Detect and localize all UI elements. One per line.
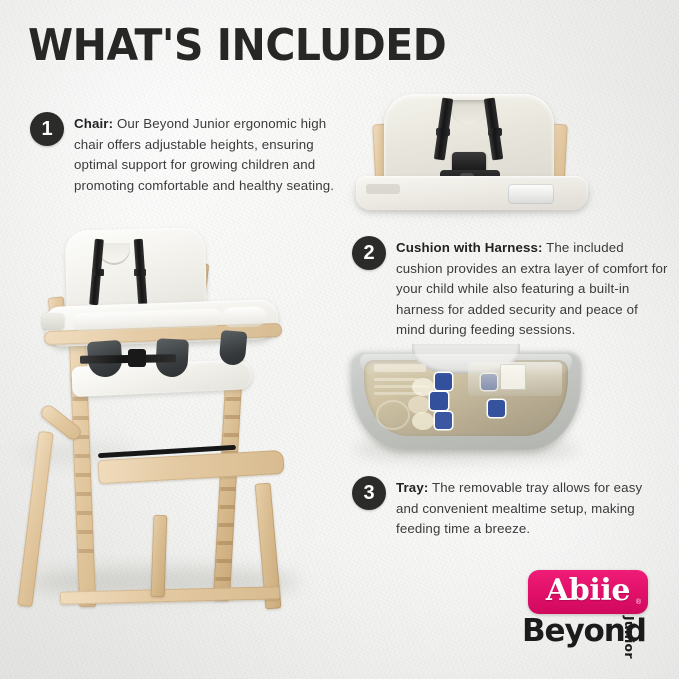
list-item-2-heading: Cushion with Harness:: [396, 240, 543, 255]
list-item-3-text: Tray: The removable tray allows for easy…: [396, 478, 668, 540]
junior-wordmark: Junior: [622, 616, 637, 659]
list-item-1-heading: Chair:: [74, 116, 113, 131]
brand-logo: Abiie ® Beyond Junior: [506, 566, 666, 666]
registered-trademark-icon: ®: [636, 599, 641, 606]
abiie-badge: Abiie ®: [528, 570, 648, 614]
page-title: WHAT'S INCLUDED: [28, 23, 446, 69]
step-number-badge-2: 2: [352, 236, 386, 270]
cushion-with-harness-photo: [352, 88, 592, 224]
abiie-wordmark: Abiie: [528, 570, 648, 614]
list-item-1-body: Our Beyond Junior ergonomic high chair o…: [74, 116, 334, 193]
list-item-2-text: Cushion with Harness: The included cushi…: [396, 238, 668, 341]
high-chair-photo: [24, 215, 334, 615]
infographic-page: WHAT'S INCLUDED: [0, 0, 679, 679]
step-number-badge-3: 3: [352, 476, 386, 510]
list-item-3-body: The removable tray allows for easy and c…: [396, 480, 642, 536]
step-number-badge-1: 1: [30, 112, 64, 146]
list-item-3-heading: Tray:: [396, 480, 428, 495]
removable-tray-photo: [350, 350, 582, 458]
list-item-1-text: Chair: Our Beyond Junior ergonomic high …: [74, 114, 346, 196]
